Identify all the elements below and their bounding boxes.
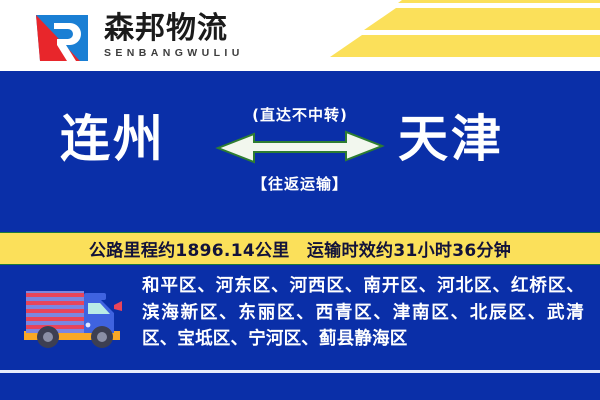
header-bar: 森邦物流 SENBANGWULIU <box>0 0 600 72</box>
brand-name-cn: 森邦物流 <box>104 13 244 45</box>
delivery-truck-icon <box>18 285 130 351</box>
covered-districts-text: 和平区、河东区、河西区、南开区、河北区、红桥区、滨海新区、东丽区、西青区、津南区… <box>142 273 584 353</box>
brand-logo[interactable]: 森邦物流 SENBANGWULIU <box>34 9 244 63</box>
route-display: 连州 (直达不中转) 【往返运输】 天津 <box>0 78 600 232</box>
coverage-section: 和平区、河东区、河西区、南开区、河北区、红桥区、滨海新区、东丽区、西青区、津南区… <box>0 265 600 371</box>
header-divider <box>0 71 600 78</box>
direct-service-note: (直达不中转) <box>210 104 390 125</box>
logistics-route-banner: 森邦物流 SENBANGWULIU 连州 (直达不中转) 【往返运输】 天津 公… <box>0 0 600 400</box>
route-middle: (直达不中转) 【往返运输】 <box>210 104 390 194</box>
footer-bar <box>0 373 600 400</box>
route-section: 连州 (直达不中转) 【往返运输】 天津 <box>0 78 600 232</box>
distance-duration-text: 公路里程约1896.14公里 运输时效约31小时36分钟 <box>89 236 511 261</box>
distance-duration-bar: 公路里程约1896.14公里 运输时效约31小时36分钟 <box>0 232 600 265</box>
round-trip-note: 【往返运输】 <box>210 173 390 194</box>
decorative-yellow-stripes <box>270 0 600 72</box>
senbang-r-logo-icon <box>34 9 90 63</box>
destination-city: 天津 <box>398 114 504 164</box>
origin-city: 连州 <box>60 114 166 164</box>
brand-text: 森邦物流 SENBANGWULIU <box>104 13 244 60</box>
bidirectional-arrow-icon <box>210 130 390 166</box>
brand-name-en: SENBANGWULIU <box>104 47 244 59</box>
